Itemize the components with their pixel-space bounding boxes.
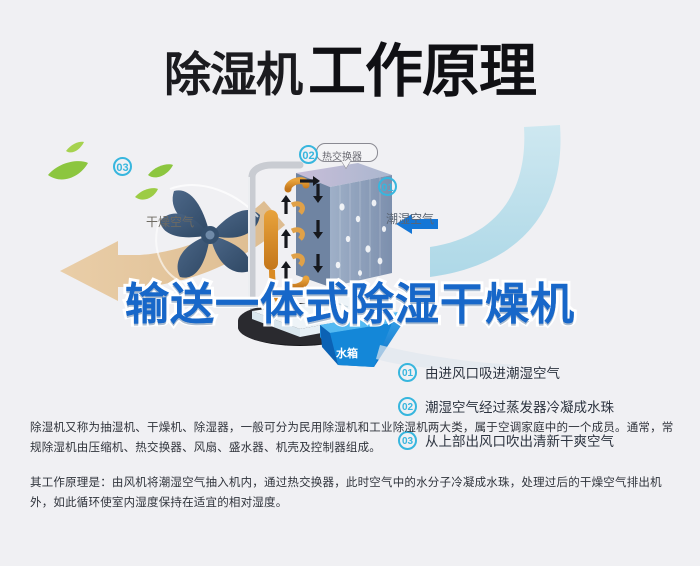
- leaf-icons: [48, 142, 173, 200]
- badge-dry-air: 03: [113, 157, 132, 176]
- step-text: 潮湿空气经过蒸发器冷凝成水珠: [425, 396, 614, 416]
- humid-air-arrow-shape: [430, 125, 561, 277]
- badge-heat-exchanger: 02: [299, 145, 318, 164]
- step-number: 02: [398, 397, 417, 416]
- dry-air-label: 干燥空气: [146, 213, 194, 230]
- description-paragraph-2: 其工作原理是：由风机将潮湿空气抽入机内，通过热交换器，此时空气中的水分子冷凝成水…: [30, 473, 674, 513]
- humid-air-label: 潮湿空气: [386, 210, 434, 227]
- dehumidifier-diagram: 热交换器 03 02 01 干燥空气 潮湿空气 水箱 01 由进风口吸进潮湿空气…: [0, 115, 700, 395]
- water-tank-label: 水箱: [336, 345, 358, 361]
- heat-exchanger-label: 热交换器: [322, 148, 362, 163]
- title-part-1: 除湿机: [164, 48, 302, 101]
- page-root: 除湿机工作原理: [0, 0, 700, 566]
- title-part-2: 工作原理: [308, 39, 536, 104]
- description-paragraph-1: 除湿机又称为抽湿机、干燥机、除湿器，一般可分为民用除湿机和工业除湿机两大类，属于…: [30, 418, 674, 458]
- watermark-text: 输送一体式除湿干燥机: [0, 268, 700, 332]
- step-item: 01 由进风口吸进潮湿空气: [398, 362, 688, 382]
- step-item: 02 潮湿空气经过蒸发器冷凝成水珠: [398, 396, 688, 416]
- badge-humid-air: 01: [378, 177, 397, 196]
- step-text: 由进风口吸进潮湿空气: [425, 362, 560, 382]
- description-block: 除湿机又称为抽湿机、干燥机、除湿器，一般可分为民用除湿机和工业除湿机两大类，属于…: [30, 418, 674, 528]
- page-title: 除湿机工作原理: [0, 24, 700, 108]
- step-number: 01: [398, 363, 417, 382]
